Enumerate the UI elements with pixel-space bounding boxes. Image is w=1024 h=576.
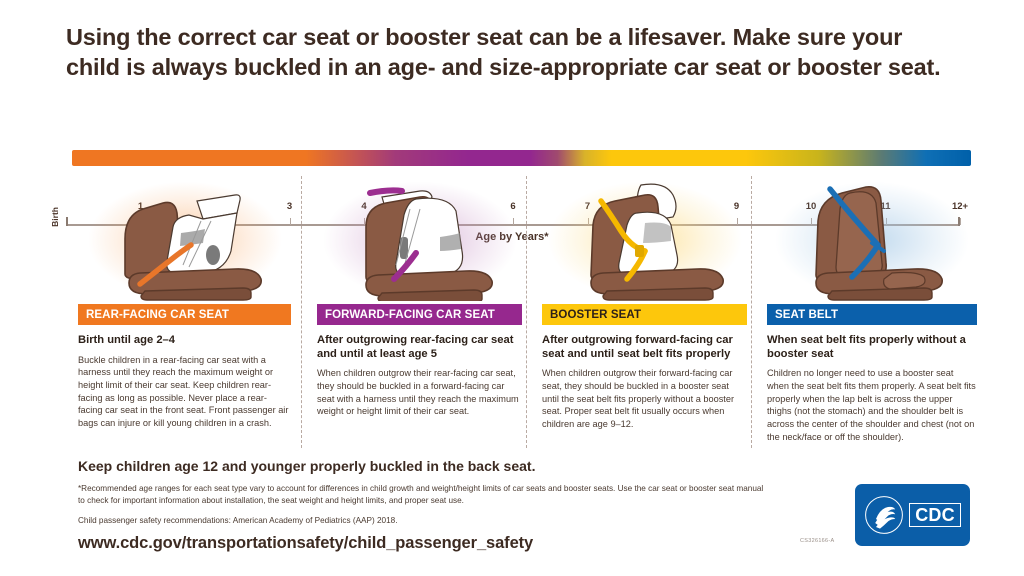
age-axis: Birth 123456789101112+ Age by Years* [0, 100, 1024, 150]
footer-source: Child passenger safety recommendations: … [78, 516, 768, 525]
column-separator-1 [301, 176, 302, 448]
footer-heading: Keep children age 12 and younger properl… [78, 458, 778, 474]
cdc-wordmark-box: CDC [909, 503, 961, 527]
column-separator-3 [751, 176, 752, 448]
publication-code: CS326166-A [800, 538, 835, 544]
column-separator-2 [526, 176, 527, 448]
seat-drawing [772, 179, 972, 301]
panel-body-booster: When children outgrow their forward-faci… [542, 367, 747, 430]
panel-booster-seat: BOOSTER SEAT After outgrowing forward-fa… [542, 176, 747, 431]
panel-body-forward-facing: When children outgrow their rear-facing … [317, 367, 522, 418]
axis-birth-label: Birth [50, 207, 60, 227]
panel-body-seat-belt: Children no longer need to use a booster… [767, 367, 977, 443]
panel-header-booster: BOOSTER SEAT [542, 304, 747, 325]
page-title: Using the correct car seat or booster se… [66, 22, 956, 82]
axis-start-cap [66, 217, 68, 226]
panel-rear-facing-car-seat: REAR-FACING CAR SEAT Birth until age 2–4… [78, 176, 291, 430]
panel-forward-facing-car-seat: FORWARD-FACING CAR SEAT After outgrowing… [317, 176, 522, 418]
seat-drawing [320, 179, 520, 301]
cdc-website-url[interactable]: www.cdc.gov/transportationsafety/child_p… [78, 534, 533, 553]
cdc-wordmark: CDC [915, 506, 955, 524]
panel-seat-belt: SEAT BELT When seat belt fits properly w… [767, 176, 977, 443]
booster-seat-illustration [542, 176, 747, 304]
panel-header-forward-facing: FORWARD-FACING CAR SEAT [317, 304, 522, 325]
cdc-logo[interactable]: CDC [855, 484, 970, 546]
footer-note: *Recommended age ranges for each seat ty… [78, 483, 768, 506]
hhs-seal-icon [864, 495, 904, 535]
panel-body-rear-facing: Buckle children in a rear-facing car sea… [78, 354, 291, 430]
seat-drawing [545, 179, 745, 301]
seat-belt-illustration [767, 176, 977, 304]
panel-header-seat-belt: SEAT BELT [767, 304, 977, 325]
age-gradient-bar [72, 150, 971, 166]
panel-subhead-forward-facing: After outgrowing rear-facing car seat an… [317, 334, 522, 361]
forward-facing-car-seat-illustration [317, 176, 522, 304]
seat-drawing [85, 179, 285, 301]
panel-subhead-booster: After outgrowing forward-facing car seat… [542, 334, 747, 361]
panel-subhead-seat-belt: When seat belt fits properly without a b… [767, 334, 977, 361]
infographic-page: Using the correct car seat or booster se… [0, 0, 1024, 576]
panel-header-rear-facing: REAR-FACING CAR SEAT [78, 304, 291, 325]
panel-subhead-rear-facing: Birth until age 2–4 [78, 334, 291, 348]
rear-facing-car-seat-illustration [78, 176, 291, 304]
